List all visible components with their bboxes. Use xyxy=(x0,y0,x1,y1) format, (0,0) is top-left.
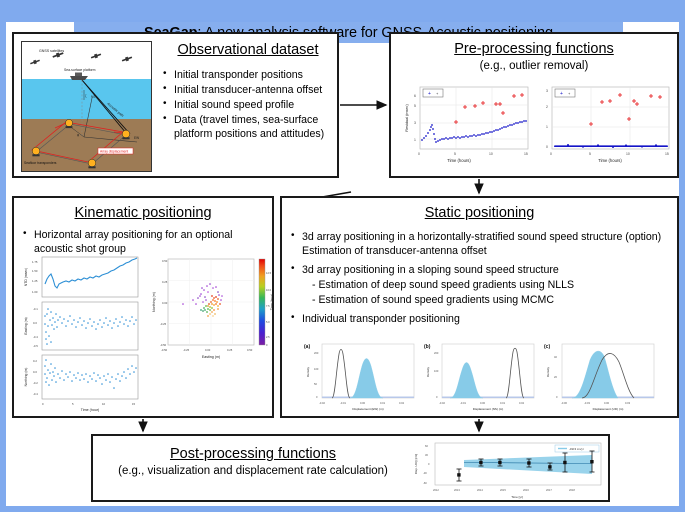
svg-text:-0.02: -0.02 xyxy=(439,401,445,405)
svg-text:Displacement (UD) (m): Displacement (UD) (m) xyxy=(593,407,624,411)
svg-text:NTD (msec): NTD (msec) xyxy=(24,268,28,286)
static-histogram-panels: (a) 200100500 -0.02-0.010.000.010.02 Dis… xyxy=(302,340,662,414)
svg-text:Array displacement: Array displacement xyxy=(100,150,128,154)
list-item: Initial transducer-antenna offset xyxy=(162,83,334,97)
svg-text:0.02: 0.02 xyxy=(399,401,405,405)
svg-text:EW: EW xyxy=(134,136,139,140)
kinematic-plots: 1.751.501.251.00 NTD (msec) xyxy=(20,254,270,414)
svg-text:0.50: 0.50 xyxy=(162,259,168,263)
figure-canvas: SeaGap: A new analysis software for GNSS… xyxy=(6,22,679,506)
svg-text:0: 0 xyxy=(428,462,430,466)
svg-text:0.0: 0.0 xyxy=(33,321,37,325)
svg-text:0: 0 xyxy=(546,145,548,149)
svg-text:10: 10 xyxy=(626,152,630,156)
svg-text:-0.50: -0.50 xyxy=(161,348,168,352)
chart-preproc-residual-after: + + xyxy=(538,82,674,170)
svg-text:-0.25: -0.25 xyxy=(160,322,167,326)
svg-text:-30: -30 xyxy=(423,471,427,475)
svg-text:0: 0 xyxy=(436,395,438,399)
svg-text:5: 5 xyxy=(589,152,591,156)
chart-static-hist-b: (b) 2001000 -0.02-0.010.000.010.02 Displ… xyxy=(422,340,537,412)
svg-text:30: 30 xyxy=(425,453,428,457)
svg-text:2012: 2012 xyxy=(433,488,439,492)
svg-text:200: 200 xyxy=(314,351,319,355)
svg-text:+: + xyxy=(560,91,563,97)
svg-text:0.25: 0.25 xyxy=(162,280,168,284)
svg-text:50: 50 xyxy=(314,382,317,386)
svg-text:2017: 2017 xyxy=(546,488,552,492)
svg-text:0: 0 xyxy=(42,402,44,406)
svg-text:60: 60 xyxy=(425,444,428,448)
svg-text:Displacement (NS) (m): Displacement (NS) (m) xyxy=(473,407,504,411)
svg-text:GNSS satellites: GNSS satellites xyxy=(39,49,64,53)
svg-text:0.00: 0.00 xyxy=(360,401,366,405)
list-item: Initial sound speed profile xyxy=(162,98,334,112)
list-item: Data (travel times, sea-surface platform… xyxy=(162,113,334,141)
svg-text:1: 1 xyxy=(546,125,548,129)
svg-text:0.00: 0.00 xyxy=(162,301,168,305)
svg-text:6: 6 xyxy=(414,94,416,98)
list-item: - Estimation of deep sound speed gradien… xyxy=(290,278,669,292)
svg-text:40: 40 xyxy=(554,355,557,359)
svg-text:15: 15 xyxy=(665,152,669,156)
svg-text:Disp. UD() [cm]: Disp. UD() [cm] xyxy=(414,454,418,475)
svg-text:(b): (b) xyxy=(424,344,431,350)
svg-text:Density: Density xyxy=(426,367,430,378)
list-item: 3d array positioning in a horizontally-s… xyxy=(290,230,669,258)
svg-text:(a): (a) xyxy=(304,344,310,350)
svg-text:0.2: 0.2 xyxy=(33,359,37,363)
svg-text:Displacement (EW) (m): Displacement (EW) (m) xyxy=(352,407,383,411)
svg-text:0.03: 0.03 xyxy=(625,401,631,405)
svg-text:-0.01: -0.01 xyxy=(460,401,466,405)
svg-text:0: 0 xyxy=(550,152,552,156)
observational-text-block: Observational dataset Initial transponde… xyxy=(162,42,334,142)
static-bullet-list: 3d array positioning in a horizontally-s… xyxy=(282,230,677,326)
svg-text:2016: 2016 xyxy=(523,488,529,492)
svg-text:-0.4: -0.4 xyxy=(33,335,38,339)
svg-text:0: 0 xyxy=(556,395,558,399)
svg-text:-0.06: -0.06 xyxy=(561,401,567,405)
svg-text:5.0: 5.0 xyxy=(266,320,270,324)
svg-text:-0.01: -0.01 xyxy=(340,401,346,405)
svg-text:-0.25: -0.25 xyxy=(183,348,190,352)
chart-postproc-timeseries: -49±3 cm/yr xyxy=(407,440,607,500)
postprocessing-subtitle: (e.g., visualization and displacement ra… xyxy=(103,465,403,478)
svg-text:10: 10 xyxy=(102,402,106,406)
box-observational-dataset: GNSS satellites Sea-surface platform Aco… xyxy=(12,32,339,178)
svg-text:1.00: 1.00 xyxy=(32,290,38,294)
observational-title: Observational dataset xyxy=(162,42,334,59)
svg-text:100: 100 xyxy=(434,369,439,373)
svg-text:20: 20 xyxy=(554,375,557,379)
svg-text:2015: 2015 xyxy=(500,488,506,492)
svg-text:Seafloor transponders: Seafloor transponders xyxy=(24,161,57,165)
svg-text:Northing (m): Northing (m) xyxy=(24,368,28,387)
svg-text:-0.1: -0.1 xyxy=(33,307,38,311)
svg-text:Density: Density xyxy=(306,367,310,378)
svg-text:0.00: 0.00 xyxy=(205,348,211,352)
svg-text:+: + xyxy=(428,91,431,97)
svg-text:Sea-surface platform: Sea-surface platform xyxy=(64,68,96,72)
svg-text:200: 200 xyxy=(434,351,439,355)
svg-text:2014: 2014 xyxy=(477,488,483,492)
svg-text:2018: 2018 xyxy=(569,488,575,492)
chart-kinematic-horizontal-scatter: 0.500.250.00-0.25-0.50 -0.50-0.250.000.2… xyxy=(146,254,274,412)
svg-text:-0.5: -0.5 xyxy=(33,344,38,348)
svg-text:Northing (m): Northing (m) xyxy=(152,292,156,312)
kinematic-title: Kinematic positioning xyxy=(14,205,272,222)
list-item: Horizontal array positioning for an opti… xyxy=(22,228,264,256)
svg-text:1.25: 1.25 xyxy=(32,279,38,283)
svg-text:0: 0 xyxy=(418,152,420,156)
box-static-positioning: Static positioning 3d array positioning … xyxy=(280,196,679,418)
svg-text:15: 15 xyxy=(132,402,136,406)
svg-text:0.00: 0.00 xyxy=(604,401,610,405)
list-item: - Estimation of sound speed gradients us… xyxy=(290,293,669,307)
svg-text:Residual (msec): Residual (msec) xyxy=(405,104,409,132)
box-preprocessing-functions: Pre-processing functions (e.g., outlier … xyxy=(389,32,679,178)
preprocessing-plots: + + xyxy=(397,82,674,172)
svg-text:Time (hour): Time (hour) xyxy=(270,294,274,310)
svg-text:Density: Density xyxy=(546,367,550,378)
kinematic-bullet-list: Horizontal array positioning for an opti… xyxy=(14,228,272,256)
svg-text:10.0: 10.0 xyxy=(266,288,272,292)
preprocessing-subtitle: (e.g., outlier removal) xyxy=(391,60,677,73)
svg-text:5: 5 xyxy=(414,104,416,108)
preprocessing-title: Pre-processing functions xyxy=(391,41,677,58)
svg-text:10: 10 xyxy=(489,152,493,156)
svg-text:0.0: 0.0 xyxy=(33,370,37,374)
svg-text:-60: -60 xyxy=(423,481,427,485)
svg-text:-0.03: -0.03 xyxy=(584,401,590,405)
postprocessing-plot: -49±3 cm/yr xyxy=(407,440,607,500)
chart-static-hist-a: (a) 200100500 -0.02-0.010.000.010.02 Dis… xyxy=(302,340,417,412)
gnss-acoustic-illustration: GNSS satellites Sea-surface platform Aco… xyxy=(21,41,152,172)
svg-text:3: 3 xyxy=(546,89,548,93)
svg-text:0.50: 0.50 xyxy=(247,348,253,352)
svg-text:-49±3 cm/yr: -49±3 cm/yr xyxy=(569,447,584,451)
svg-text:-0.50: -0.50 xyxy=(160,343,167,347)
svg-text:1.75: 1.75 xyxy=(32,260,38,264)
svg-text:-0.02: -0.02 xyxy=(319,401,325,405)
svg-text:0.01: 0.01 xyxy=(380,401,386,405)
static-title: Static positioning xyxy=(282,205,677,222)
svg-text:(c): (c) xyxy=(544,344,550,350)
svg-text:3: 3 xyxy=(414,121,416,125)
svg-text:Time (hours): Time (hours) xyxy=(447,158,471,163)
svg-text:2013: 2013 xyxy=(454,488,460,492)
svg-text:Easting (m): Easting (m) xyxy=(202,355,220,359)
svg-text:-0.2: -0.2 xyxy=(33,381,38,385)
svg-text:-0.4: -0.4 xyxy=(33,392,38,396)
svg-text:15: 15 xyxy=(524,152,528,156)
svg-text:2.5: 2.5 xyxy=(266,335,270,339)
svg-text:φ: φ xyxy=(77,133,79,137)
list-item: 3d array positioning in a sloping sound … xyxy=(290,263,669,277)
svg-text:5: 5 xyxy=(454,152,456,156)
svg-text:0: 0 xyxy=(266,343,268,347)
svg-text:0.01: 0.01 xyxy=(500,401,506,405)
box-postprocessing-functions: Post-processing functions (e.g., visuali… xyxy=(91,434,610,502)
chart-kinematic-timeseries: 1.751.501.251.00 NTD (msec) xyxy=(20,254,142,412)
svg-text:NS: NS xyxy=(91,95,95,99)
svg-text:Time (hour): Time (hour) xyxy=(81,408,99,412)
list-item: Individual transponder positioning xyxy=(290,312,669,326)
postprocessing-title: Post-processing functions xyxy=(103,446,403,463)
chart-static-hist-c: (c) 40200 -0.06-0.030.000.03 Displacemen… xyxy=(542,340,657,412)
svg-text:5: 5 xyxy=(72,402,74,406)
svg-text:0: 0 xyxy=(316,395,318,399)
svg-text:0.02: 0.02 xyxy=(519,401,525,405)
svg-text:100: 100 xyxy=(314,367,319,371)
svg-text:Time (hours): Time (hours) xyxy=(598,158,622,163)
observational-bullet-list: Initial transponder positions Initial tr… xyxy=(162,68,334,141)
list-item: Initial transponder positions xyxy=(162,68,334,82)
svg-text:0.25: 0.25 xyxy=(227,348,233,352)
svg-text:Easting (m): Easting (m) xyxy=(24,317,28,334)
svg-text:1: 1 xyxy=(414,138,416,142)
svg-text:Time [yr]: Time [yr] xyxy=(511,495,523,499)
figure-root: SeaGap: A new analysis software for GNSS… xyxy=(0,0,685,512)
svg-text:2: 2 xyxy=(546,105,548,109)
box-kinematic-positioning: Kinematic positioning Horizontal array p… xyxy=(12,196,274,418)
svg-text:1.50: 1.50 xyxy=(32,269,38,273)
svg-text:0.00: 0.00 xyxy=(480,401,486,405)
chart-preproc-residual-before: + + xyxy=(397,82,533,170)
svg-text:12.5: 12.5 xyxy=(266,271,272,275)
